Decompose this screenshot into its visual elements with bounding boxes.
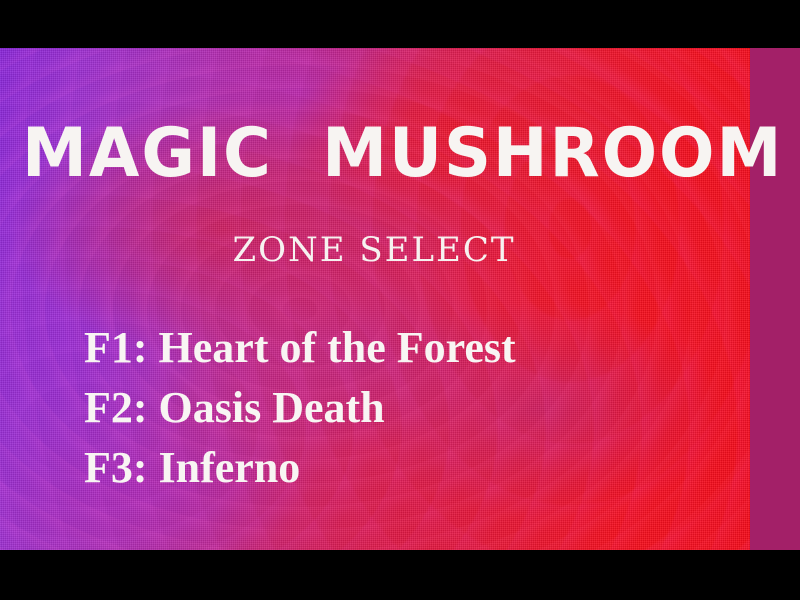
letterbox-top-bar [0,0,800,48]
menu-item-f1[interactable]: F1: Heart of the Forest [84,318,516,378]
menu-item-f2[interactable]: F2: Oasis Death [84,378,516,438]
letterbox-bottom-bar [0,550,800,600]
text-layer: MAGIC MUSHROOM ZONE SELECT F1: Heart of … [0,0,800,600]
menu-item-f3[interactable]: F3: Inferno [84,438,516,498]
zone-select-heading: ZONE SELECT [0,231,748,269]
zone-select-menu: F1: Heart of the Forest F2: Oasis Death … [84,318,516,498]
game-title: MAGIC MUSHROOM [22,118,713,190]
game-screen: MAGIC MUSHROOM ZONE SELECT F1: Heart of … [0,0,800,600]
